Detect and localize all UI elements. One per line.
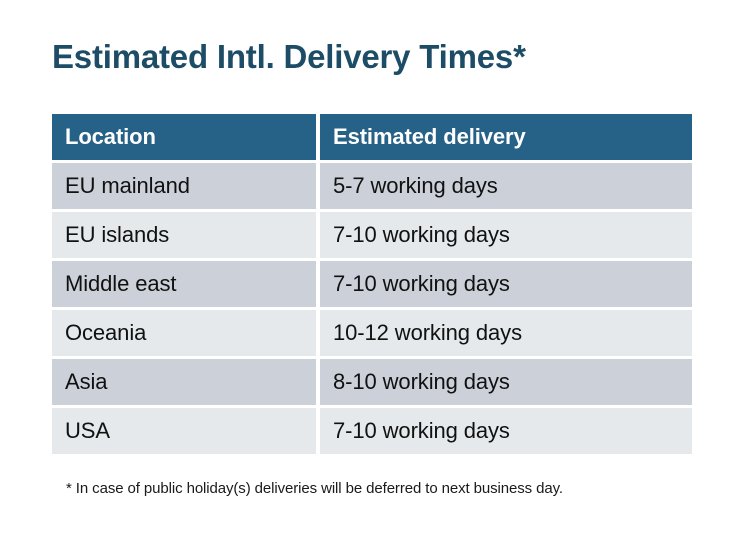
table-row: Middle east 7-10 working days <box>52 261 692 307</box>
delivery-times-table: Location Estimated delivery EU mainland … <box>52 114 692 457</box>
cell-estimated-delivery: 10-12 working days <box>320 310 692 356</box>
cell-location: EU mainland <box>52 163 316 209</box>
table-row: Oceania 10-12 working days <box>52 310 692 356</box>
cell-location: Middle east <box>52 261 316 307</box>
cell-location: EU islands <box>52 212 316 258</box>
table-row: EU mainland 5-7 working days <box>52 163 692 209</box>
cell-location: Oceania <box>52 310 316 356</box>
cell-estimated-delivery: 5-7 working days <box>320 163 692 209</box>
page-title: Estimated Intl. Delivery Times* <box>52 36 526 78</box>
table-header-row: Location Estimated delivery <box>52 114 692 160</box>
cell-estimated-delivery: 8-10 working days <box>320 359 692 405</box>
footnote-text: * In case of public holiday(s) deliverie… <box>66 480 563 497</box>
cell-estimated-delivery: 7-10 working days <box>320 261 692 307</box>
cell-location: USA <box>52 408 316 454</box>
column-header-estimated-delivery: Estimated delivery <box>320 114 692 160</box>
cell-estimated-delivery: 7-10 working days <box>320 408 692 454</box>
table-row: Asia 8-10 working days <box>52 359 692 405</box>
table-row: USA 7-10 working days <box>52 408 692 454</box>
cell-estimated-delivery: 7-10 working days <box>320 212 692 258</box>
table-row: EU islands 7-10 working days <box>52 212 692 258</box>
column-header-location: Location <box>52 114 316 160</box>
cell-location: Asia <box>52 359 316 405</box>
delivery-times-page: Estimated Intl. Delivery Times* Location… <box>0 0 745 536</box>
